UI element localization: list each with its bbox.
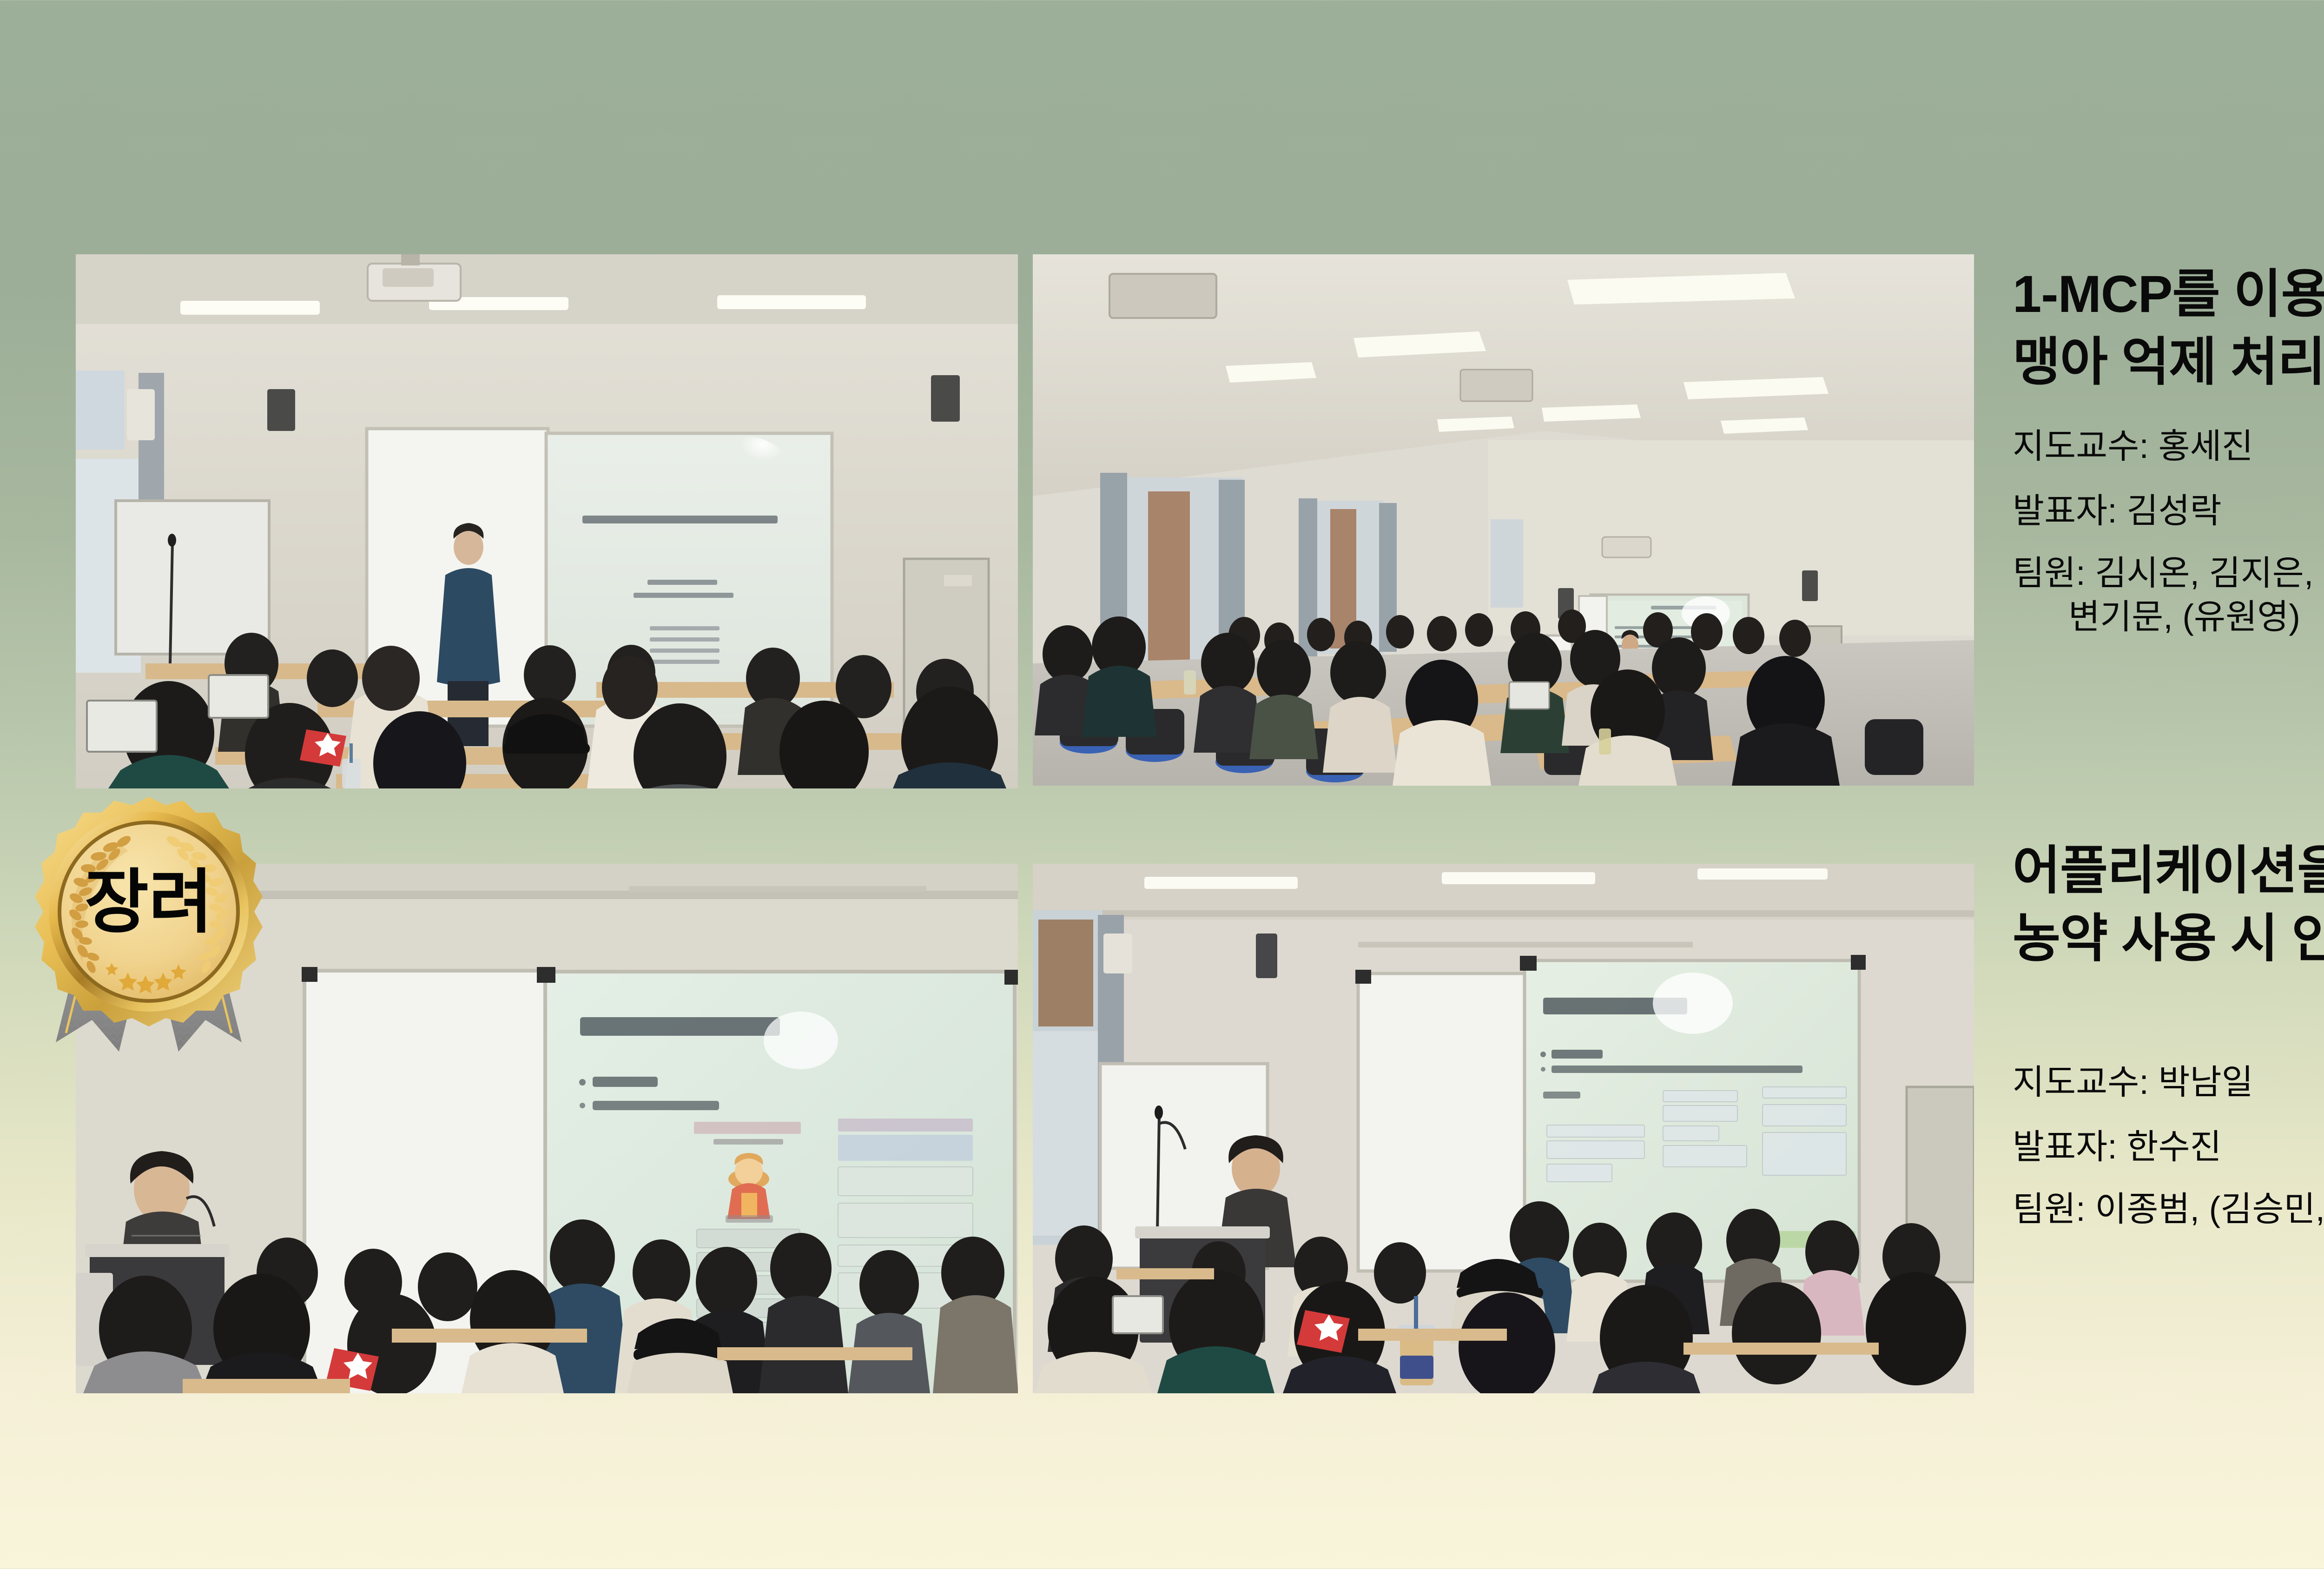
award-label: 장려 [85,863,213,941]
entry-2-title: 어플리케이션을 활용한 농약 사용 시 안전 도우미 [2013,837,2324,972]
entry-block-2: 어플리케이션을 활용한 농약 사용 시 안전 도우미 지도교수: 박남일 발표자… [2013,837,2324,1231]
entry-1-team-line2: 변기문, (유원영) [2013,595,2324,639]
entry-1-team-line1: 팀원: 김시온, 김지은, 김한비, [2013,554,2324,592]
entry-block-1: 1-MCP를 이용한 맹아 억제 처리 효과. 지도교수: 홍세진 발표자: 김… [2013,260,2324,639]
photo-bottom-right [1033,864,1974,1393]
poster-canvas: 장려 1-MCP를 이용한 맹아 억제 처리 효과. 지도교수: 홍세진 발표자… [0,0,2324,1569]
photo-top-right [1033,254,1974,786]
entry-2-team-line1: 팀원: 이종범, (김승민, 장민영) [2013,1190,2324,1228]
entry-1-presenter: 발표자: 김성락 [2013,489,2324,532]
photo-top-left [76,254,1018,788]
entry-1-advisor: 지도교수: 홍세진 [2013,424,2324,468]
entry-2-advisor: 지도교수: 박남일 [2013,1060,2324,1104]
entry-1-team: 팀원: 김시온, 김지은, 김한비, 변기문, (유원영) [2013,551,2324,639]
entry-1-title: 1-MCP를 이용한 맹아 억제 처리 효과. [2013,260,2324,396]
entry-2-presenter: 발표자: 한수진 [2013,1125,2324,1168]
entry-2-team: 팀원: 이종범, (김승민, 장민영) [2013,1187,2324,1231]
award-medal-badge: 장려 [28,791,270,1052]
